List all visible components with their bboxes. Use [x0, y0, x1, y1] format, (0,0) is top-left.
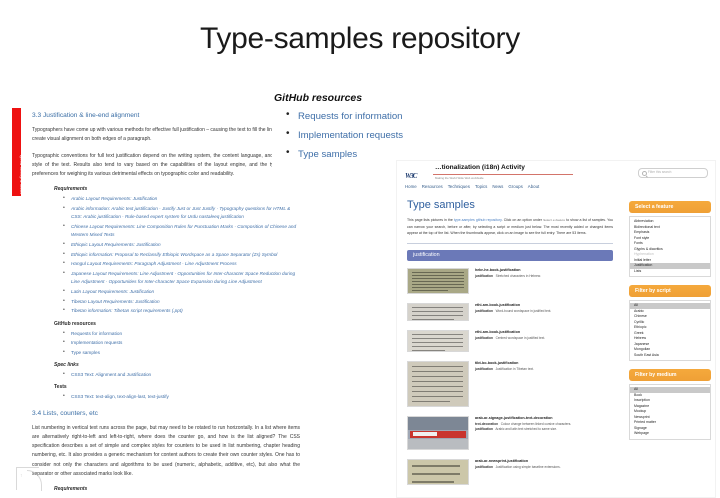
- site-header: W3C Making the World Wide Web worldwide …: [397, 161, 715, 195]
- sample-description: justification Word-bound wordspace in ju…: [475, 309, 613, 314]
- w3c-logo: W3C: [405, 172, 431, 181]
- site-nav: HomeResourcesTechniquesTopicsNewsGroupsA…: [405, 184, 544, 189]
- intro-mid: . Click on an option under: [502, 218, 544, 222]
- sample-description: justification Stretched characters in He…: [475, 274, 613, 279]
- section-33-spec-list: CSS3 Text: Alignment and Justification: [54, 371, 300, 379]
- section-34-para-1: List numbering in vertical text runs acr…: [32, 424, 300, 480]
- sample-description-secondary: justification Arabic and latin text stre…: [475, 427, 613, 432]
- browser-page-heading: Type samples: [407, 199, 623, 211]
- sample-title[interactable]: arab-ar-newsprint-justification: [475, 459, 613, 463]
- sample-title[interactable]: ethi-am-book-justification: [475, 303, 613, 307]
- section-33-requirements-heading: Requirements: [54, 186, 300, 192]
- list-item[interactable]: Tibetan Layout Requirements: Justificati…: [66, 298, 300, 306]
- list-item[interactable]: arab-ar-signage-justification-text-decor…: [407, 416, 613, 450]
- script-list[interactable]: All Arabic Chinese Cyrillic Ethiopic Gre…: [629, 300, 711, 361]
- sample-thumbnail[interactable]: [407, 459, 469, 485]
- sample-caption: arab-ar-signage-justification-text-decor…: [475, 416, 613, 432]
- nav-item-news[interactable]: News: [492, 184, 503, 189]
- nav-item-about[interactable]: About: [528, 184, 539, 189]
- list-item[interactable]: Tibetan information: Tibetan script requ…: [66, 307, 300, 315]
- sample-tag: justification: [475, 274, 493, 278]
- list-item[interactable]: ethi-am-book-justification justification…: [407, 330, 613, 352]
- section-34-requirements-heading: Requirements: [54, 486, 300, 492]
- sample-tag: text-decoration: [475, 422, 498, 426]
- intro-pre: This page lists pictures in the: [407, 218, 454, 222]
- title-divider: [433, 174, 573, 175]
- sample-caption: tibt-bo-book-justification justification…: [475, 361, 613, 372]
- filter-sidebar: Select a feature Abbreviation Bidirectio…: [629, 201, 711, 448]
- sample-title[interactable]: arab-ar-signage-justification-text-decor…: [475, 416, 613, 420]
- search-input[interactable]: Filter this search: [638, 168, 708, 178]
- section-33-github-heading: GitHub resources: [54, 321, 300, 327]
- list-item[interactable]: tibt-bo-book-justification justification…: [407, 361, 613, 407]
- feature-list[interactable]: Abbreviation Bidirectional text Emphasis…: [629, 216, 711, 277]
- page-main: Type samples This page lists pictures in…: [397, 195, 623, 494]
- list-item[interactable]: Ethiopic information: Proposal to Reclas…: [66, 251, 300, 259]
- select-a-feature-header: Select a feature: [629, 201, 711, 213]
- list-item[interactable]: Japanese Layout Requirements: Line Adjus…: [66, 270, 300, 286]
- sample-description: justification Justification using simple…: [475, 465, 613, 470]
- list-item[interactable]: Requests for information: [66, 330, 300, 338]
- search-placeholder: Filter this search: [648, 170, 671, 174]
- list-item[interactable]: Arabic information: Arabic text justific…: [66, 205, 300, 221]
- list-item[interactable]: Latin Layout Requirements: Justification: [66, 288, 300, 296]
- section-33-github-list: Requests for information Implementation …: [54, 330, 300, 358]
- list-item[interactable]: Type samples: [66, 349, 300, 357]
- sample-thumbnail[interactable]: [407, 330, 469, 352]
- list-item[interactable]: Implementation requests: [66, 339, 300, 347]
- medium-list[interactable]: All Book Inscription Magazine Mockup New…: [629, 384, 711, 440]
- sample-caption: ethi-am-book-justification justification…: [475, 303, 613, 314]
- list-item[interactable]: Hangul Layout Requirements: Paragraph Ad…: [66, 260, 300, 268]
- list-item[interactable]: Type samples: [298, 150, 490, 160]
- document-body: 3.3 Justification & line-end alignment T…: [32, 104, 300, 494]
- list-item[interactable]: Implementation requests: [298, 131, 490, 141]
- w3c-tagline: Making the World Wide Web worldwide: [435, 176, 484, 180]
- sample-thumbnail[interactable]: [407, 268, 469, 294]
- nav-item-techniques[interactable]: Techniques: [448, 184, 470, 189]
- sample-thumbnail[interactable]: [407, 361, 469, 407]
- sample-description: justification Centred wordspace in justi…: [475, 336, 613, 341]
- sample-title[interactable]: ethi-am-book-justification: [475, 330, 613, 334]
- sample-tag: justification: [475, 309, 493, 313]
- page-curl-icon: ↑: [16, 467, 39, 490]
- slide: Type-samples repository W3C Editor's Dra…: [0, 0, 720, 498]
- sample-tag: justification: [475, 336, 493, 340]
- list-item[interactable]: Chinese Layout Requirements: Line Compos…: [66, 223, 300, 239]
- nav-item-resources[interactable]: Resources: [422, 184, 443, 189]
- section-33-tests-list: CSS3 Text: text-align, text-align-last, …: [54, 393, 300, 401]
- editors-draft-document: W3C Editor's Draft 3.3 Justification & l…: [12, 104, 300, 494]
- intro-paragraph: This page lists pictures in the type-sam…: [407, 217, 613, 236]
- filter-by-medium-header: Filter by medium: [629, 369, 711, 381]
- medium-option-webpage[interactable]: Webpage: [630, 431, 710, 437]
- section-33-para-1: Typographers have come up with various m…: [32, 126, 300, 145]
- sample-thumbnail[interactable]: [407, 416, 469, 450]
- intro-emphasis: Select a feature: [543, 218, 565, 222]
- filter-by-script-header: Filter by script: [629, 285, 711, 297]
- type-samples-repo-link[interactable]: type-samples github repository: [454, 218, 502, 222]
- section-34-heading: 3.4 Lists, counters, etc: [32, 410, 300, 417]
- list-item[interactable]: hebr-he-book-justification justification…: [407, 268, 613, 294]
- editors-draft-tab: W3C Editor's Draft: [12, 108, 21, 196]
- callout-heading: GitHub resources: [274, 92, 490, 104]
- section-33-tests-heading: Tests: [54, 384, 300, 390]
- sample-thumbnail[interactable]: [407, 303, 469, 321]
- list-item[interactable]: CSS3 Text: text-align, text-align-last, …: [66, 393, 300, 401]
- nav-item-topics[interactable]: Topics: [475, 184, 487, 189]
- list-item[interactable]: arab-ar-newsprint-justification justific…: [407, 459, 613, 485]
- nav-item-groups[interactable]: Groups: [508, 184, 522, 189]
- list-item[interactable]: ethi-am-book-justification justification…: [407, 303, 613, 321]
- sample-caption: hebr-he-book-justification justification…: [475, 268, 613, 279]
- site-title: …tionalization (i18n) Activity: [435, 164, 525, 171]
- page-title: Type-samples repository: [0, 22, 720, 56]
- sample-tag: justification: [475, 465, 493, 469]
- editors-draft-tab-label: W3C Editor's Draft: [19, 155, 24, 194]
- sample-caption: arab-ar-newsprint-justification justific…: [475, 459, 613, 470]
- callout-list: Requests for information Implementation …: [272, 112, 490, 160]
- intro-divider: [407, 243, 613, 244]
- sample-tag-secondary: justification: [475, 427, 493, 431]
- nav-item-home[interactable]: Home: [405, 184, 417, 189]
- search-icon: [642, 171, 647, 176]
- list-item[interactable]: Requests for information: [298, 112, 490, 122]
- section-33-spec-heading: Spec links: [54, 362, 300, 368]
- section-33-heading: 3.3 Justification & line-end alignment: [32, 112, 300, 119]
- sample-tag: justification: [475, 367, 493, 371]
- sample-title[interactable]: hebr-he-book-justification: [475, 268, 613, 272]
- sample-caption: ethi-am-book-justification justification…: [475, 330, 613, 341]
- section-33-requirements-list: Arabic Layout Requirements: Justificatio…: [54, 195, 300, 315]
- section-33-para-2: Typographic conventions for full text ju…: [32, 152, 300, 180]
- sample-title[interactable]: tibt-bo-book-justification: [475, 361, 613, 365]
- section-bar-justification: justification: [407, 250, 613, 261]
- type-samples-browser-screenshot: W3C Making the World Wide Web worldwide …: [396, 160, 716, 498]
- sample-description: justification Justification in Tibetan t…: [475, 367, 613, 372]
- script-option-south-east-asia[interactable]: South East Asia: [630, 353, 710, 359]
- list-item[interactable]: Ethiopic Layout Requirements: Justificat…: [66, 241, 300, 249]
- list-item[interactable]: CSS3 Text: Alignment and Justification: [66, 371, 300, 379]
- feature-option-lists[interactable]: Lists: [630, 269, 710, 275]
- list-item[interactable]: Arabic Layout Requirements: Justificatio…: [66, 195, 300, 203]
